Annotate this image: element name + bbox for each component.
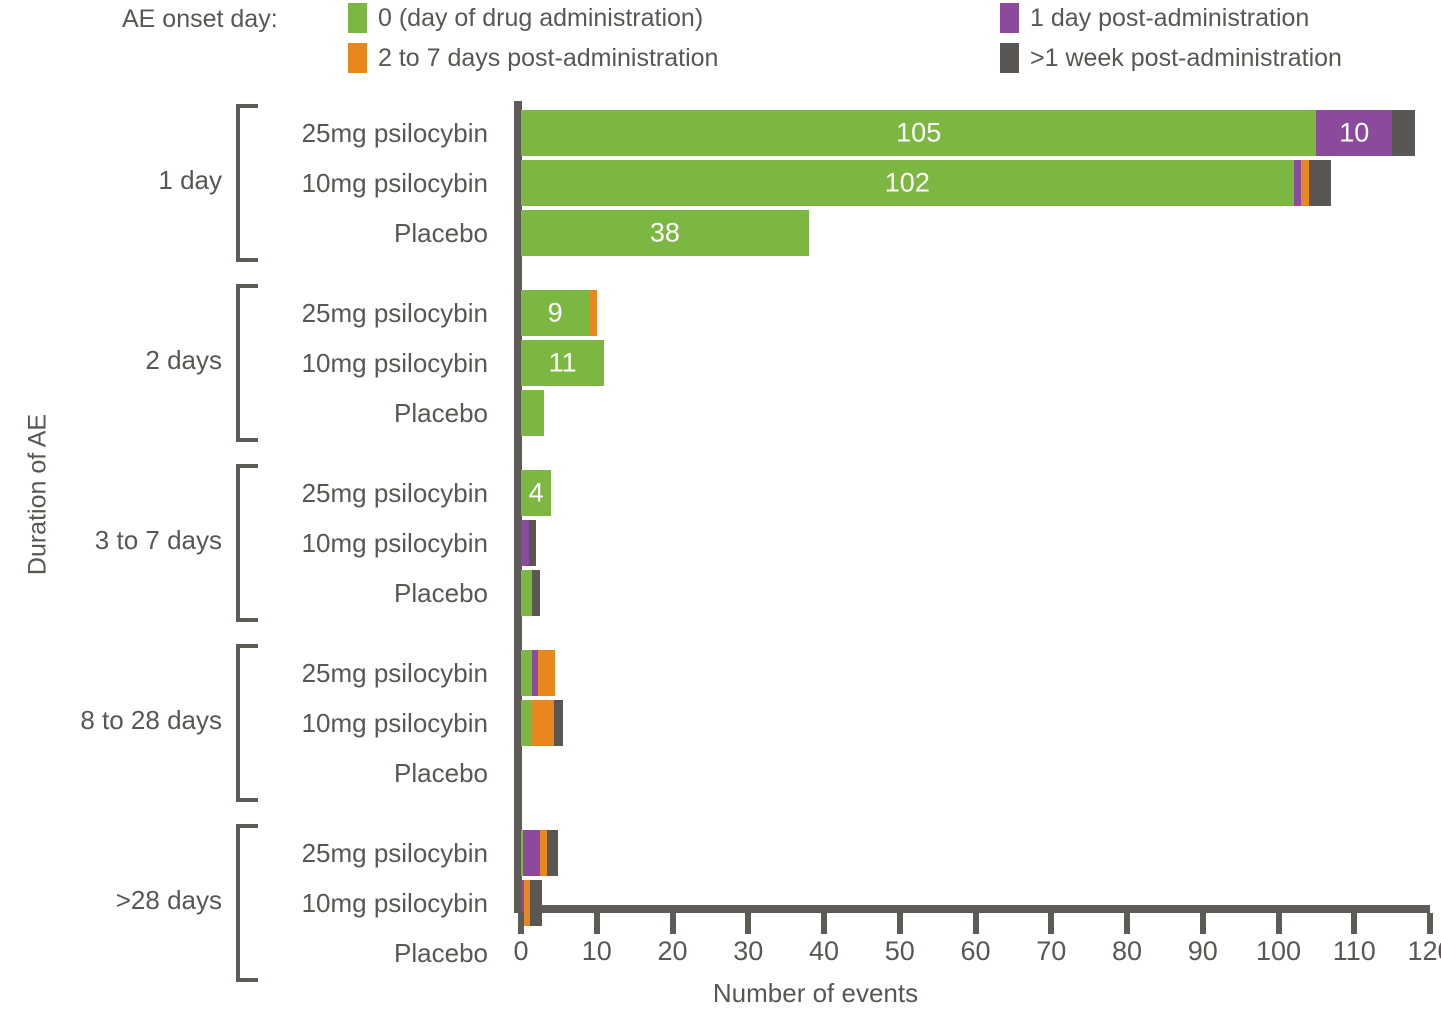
bar-segment[interactable] [589, 290, 597, 336]
series-label: 10mg psilocybin [18, 708, 488, 739]
bar-segment[interactable] [523, 830, 540, 876]
bar-segment[interactable] [521, 520, 529, 566]
bar-row[interactable] [521, 520, 536, 566]
series-label: Placebo [18, 218, 488, 249]
bar-segment[interactable]: 38 [521, 210, 809, 256]
series-label: 10mg psilocybin [18, 888, 488, 919]
bar-segment[interactable] [540, 830, 547, 876]
bar-row[interactable] [521, 700, 563, 746]
x-axis-title: Number of events [0, 978, 1441, 1009]
bar-value-label: 102 [885, 168, 930, 199]
x-tick [1124, 913, 1130, 934]
bar-row[interactable] [521, 570, 540, 616]
x-axis-line [514, 905, 1430, 913]
x-tick [1427, 913, 1433, 934]
bar-segment[interactable] [554, 700, 563, 746]
bar-segment[interactable] [521, 700, 531, 746]
x-tick-label: 70 [1011, 936, 1091, 967]
bar-value-label: 9 [548, 298, 563, 329]
x-tick [897, 913, 903, 934]
x-tick [1351, 913, 1357, 934]
x-tick [821, 913, 827, 934]
bar-segment[interactable] [547, 830, 558, 876]
bar-value-label: 38 [650, 218, 680, 249]
bar-segment[interactable] [1301, 160, 1309, 206]
bar-segment[interactable] [521, 650, 532, 696]
bar-chart: Duration of AE 1 day2 days3 to 7 days8 t… [0, 0, 1441, 1016]
x-tick-label: 0 [481, 936, 561, 967]
x-tick [1048, 913, 1054, 934]
bar-segment[interactable] [530, 880, 542, 926]
bar-segment[interactable]: 102 [521, 160, 1294, 206]
x-tick [1276, 913, 1282, 934]
x-tick-label: 50 [860, 936, 940, 967]
bar-row[interactable] [521, 880, 542, 926]
series-label: 10mg psilocybin [18, 348, 488, 379]
bar-value-label: 4 [529, 478, 544, 509]
bar-row[interactable]: 9 [521, 290, 597, 336]
series-label: Placebo [18, 578, 488, 609]
series-label: Placebo [18, 398, 488, 429]
bar-segment[interactable] [538, 650, 555, 696]
bar-row[interactable]: 4 [521, 470, 551, 516]
x-tick-label: 100 [1239, 936, 1319, 967]
series-label: Placebo [18, 938, 488, 969]
bar-row[interactable]: 102 [521, 160, 1331, 206]
x-tick [518, 913, 524, 934]
bar-value-label: 105 [896, 118, 941, 149]
bar-segment[interactable]: 10 [1316, 110, 1392, 156]
bar-row[interactable]: 11 [521, 340, 604, 386]
x-tick [670, 913, 676, 934]
series-label: 25mg psilocybin [18, 118, 488, 149]
x-tick-label: 90 [1163, 936, 1243, 967]
bar-segment[interactable] [531, 700, 554, 746]
series-label: 25mg psilocybin [18, 658, 488, 689]
series-label: 25mg psilocybin [18, 838, 488, 869]
bar-value-label: 10 [1339, 118, 1369, 149]
x-tick-label: 40 [784, 936, 864, 967]
bar-segment[interactable]: 105 [521, 110, 1316, 156]
series-label: 25mg psilocybin [18, 298, 488, 329]
series-label: Placebo [18, 758, 488, 789]
bar-segment[interactable]: 9 [521, 290, 589, 336]
bar-segment[interactable] [521, 390, 544, 436]
bar-segment[interactable] [532, 570, 540, 616]
x-tick-label: 120 [1390, 936, 1441, 967]
x-tick [1200, 913, 1206, 934]
series-label: 10mg psilocybin [18, 168, 488, 199]
bar-segment[interactable] [1392, 110, 1415, 156]
x-tick-label: 20 [633, 936, 713, 967]
bar-value-label: 11 [549, 348, 577, 379]
x-tick [973, 913, 979, 934]
bar-segment[interactable]: 11 [521, 340, 604, 386]
x-tick-label: 10 [557, 936, 637, 967]
x-tick-label: 110 [1314, 936, 1394, 967]
x-tick-label: 30 [708, 936, 788, 967]
x-tick [594, 913, 600, 934]
bar-segment[interactable] [1309, 160, 1332, 206]
series-label: 10mg psilocybin [18, 528, 488, 559]
series-label: 25mg psilocybin [18, 478, 488, 509]
x-tick [745, 913, 751, 934]
bar-segment[interactable]: 4 [521, 470, 551, 516]
bar-row[interactable] [521, 390, 544, 436]
x-tick-label: 80 [1087, 936, 1167, 967]
bar-row[interactable] [521, 650, 555, 696]
bar-row[interactable] [521, 830, 558, 876]
bar-segment[interactable] [1294, 160, 1302, 206]
bar-segment[interactable] [529, 520, 537, 566]
bar-segment[interactable] [521, 570, 532, 616]
bar-row[interactable]: 38 [521, 210, 809, 256]
x-tick-label: 60 [936, 936, 1016, 967]
bar-row[interactable]: 10510 [521, 110, 1415, 156]
